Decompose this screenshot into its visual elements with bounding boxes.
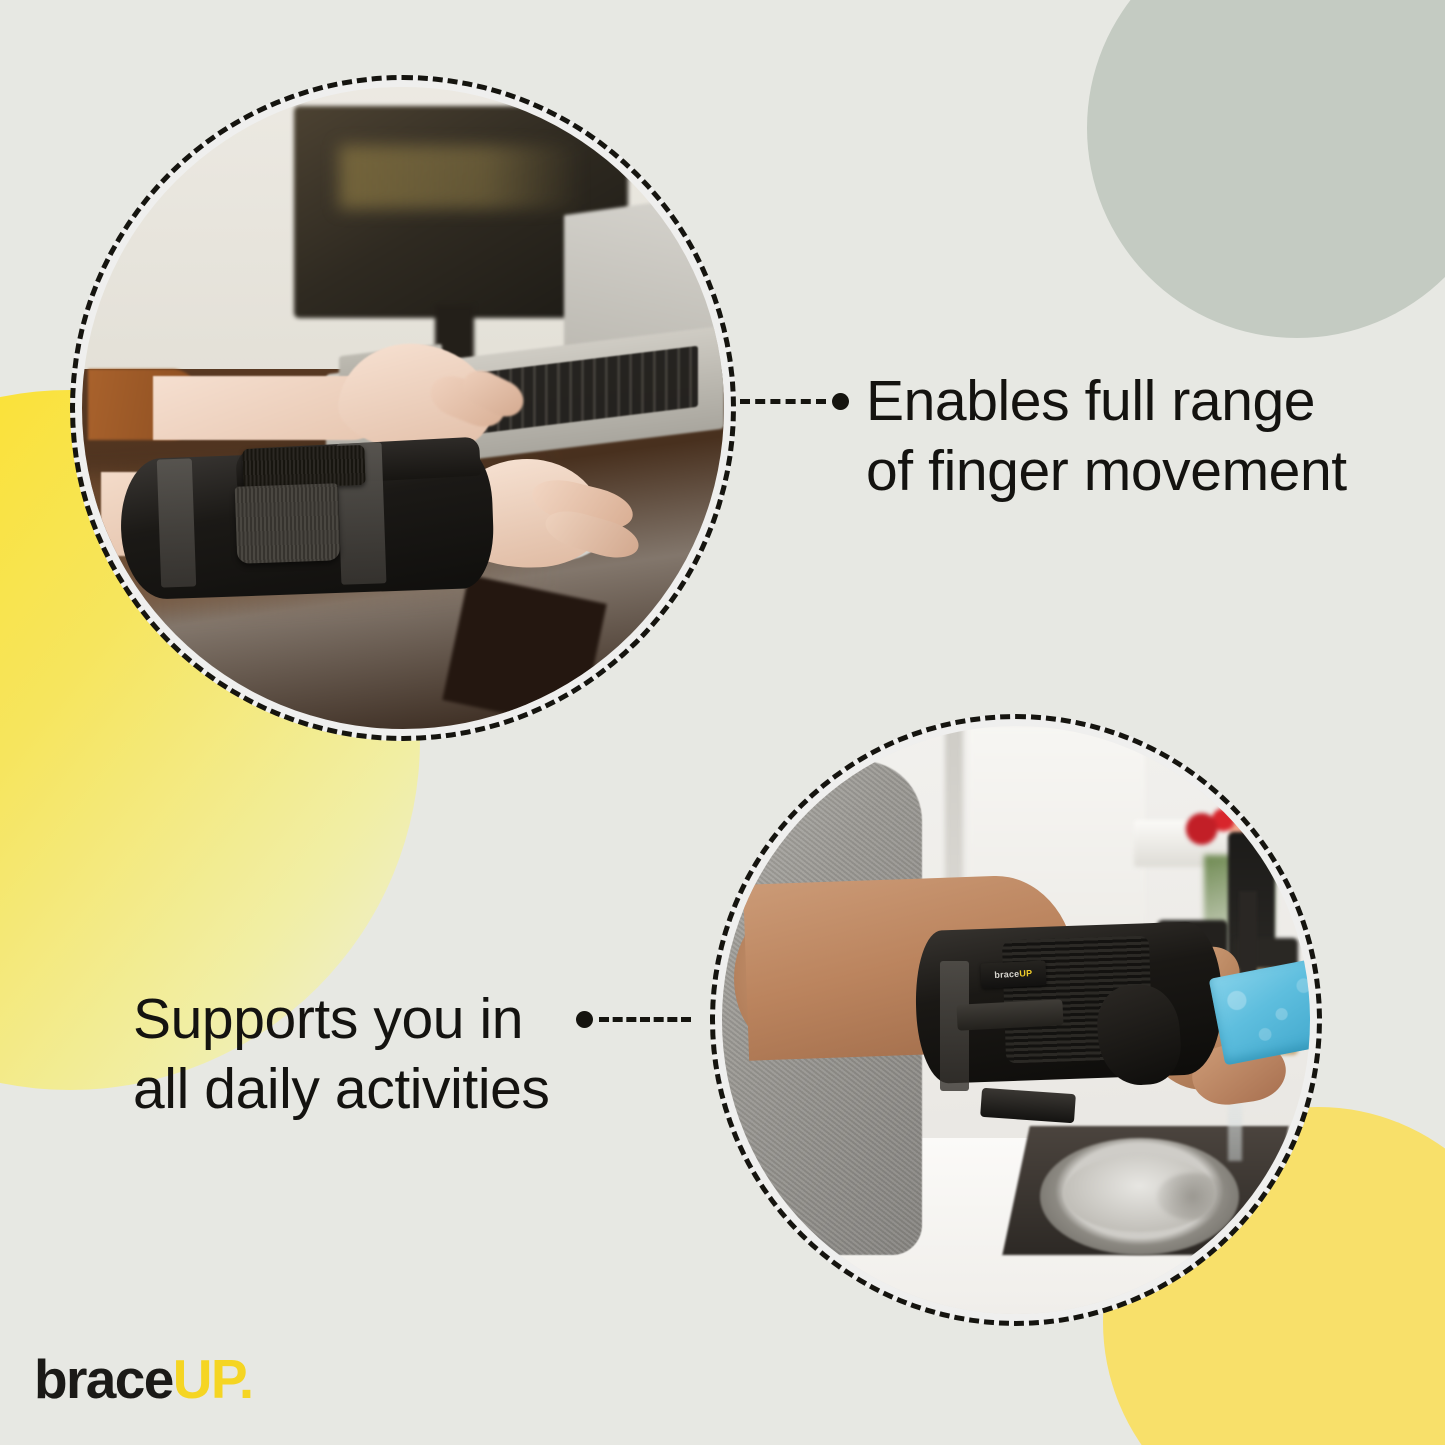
dashed-line (740, 399, 826, 404)
brand-logo: braceUP. (34, 1352, 253, 1407)
bullet-dot-icon (832, 393, 849, 410)
bullet-dot-icon (576, 1011, 593, 1028)
photo-desk-typing (70, 75, 736, 741)
brace-velcro-band (242, 444, 365, 488)
dashed-line (599, 1017, 691, 1022)
brace-strap (157, 459, 197, 589)
brace-tag-dark: brace (994, 969, 1020, 980)
brand-logo-name: brace (34, 1348, 173, 1410)
brand-logo-accent: UP. (173, 1348, 253, 1410)
callout-text-finger-movement: Enables full range of finger movement (866, 366, 1347, 506)
product-feature-banner: braceUP Enables full range of finger mov… (0, 0, 1445, 1445)
water-splash (1157, 1173, 1228, 1220)
photo-desk-typing-image (82, 87, 724, 729)
brace-velcro-flap (235, 483, 340, 564)
photo-kitchen-sink-image: braceUP (722, 726, 1310, 1314)
leader-line-daily-activities (576, 1011, 691, 1028)
photo-kitchen-sink: braceUP (710, 714, 1322, 1326)
leader-line-finger-movement (740, 393, 849, 410)
brace-tag-accent: UP (1019, 968, 1032, 979)
sage-circle-decoration (1087, 0, 1445, 338)
brace-brand-tag: braceUP (980, 961, 1046, 989)
monitor-screen-glow (339, 145, 583, 209)
callout-text-daily-activities: Supports you in all daily activities (133, 984, 550, 1124)
